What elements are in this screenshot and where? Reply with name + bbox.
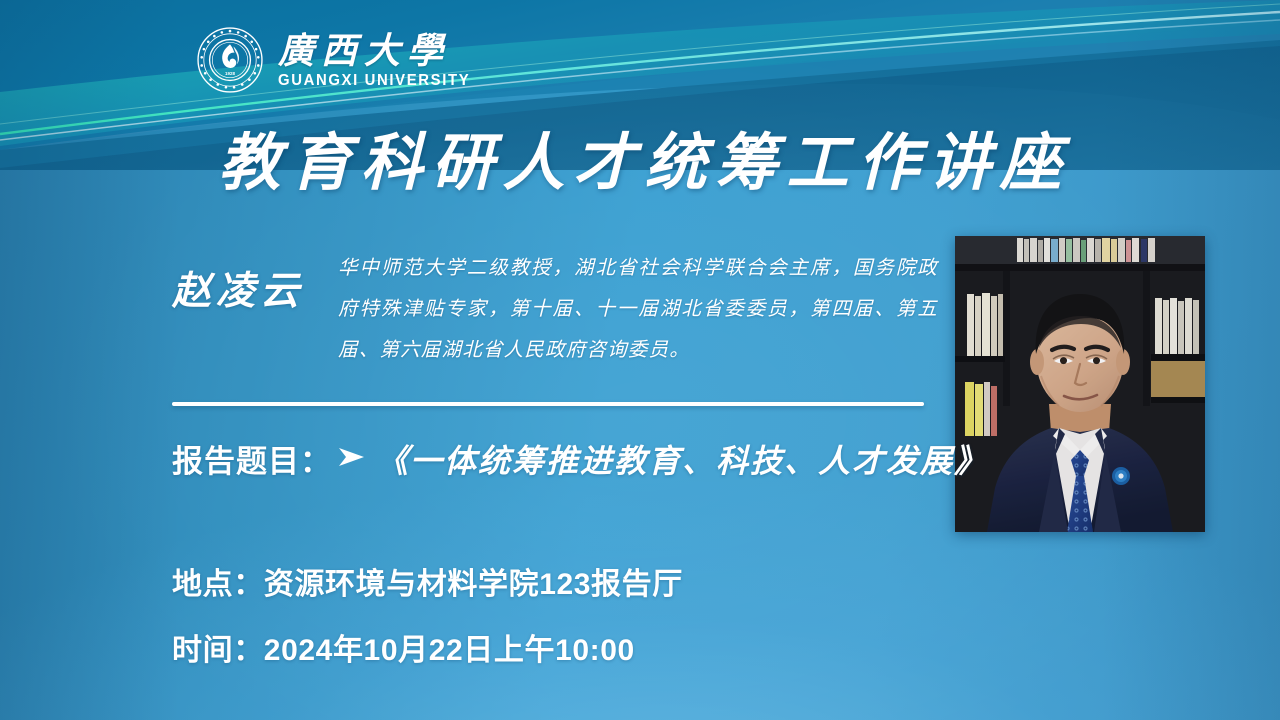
university-logo: 1928 廣西大學 GUANGXI UNIVERSITY — [196, 24, 478, 96]
logo-wordmark: 廣西大學 GUANGXI UNIVERSITY — [278, 33, 478, 90]
logo-name-cn: 廣西大學 — [278, 33, 478, 70]
section-divider — [172, 402, 924, 406]
logo-name-en: GUANGXI UNIVERSITY — [278, 72, 470, 89]
speaker-bio: 华中师范大学二级教授，湖北省社会科学联合会主席，国务院政府特殊津贴专家，第十届、… — [338, 248, 938, 371]
poster-main-title: 教育科研人才统筹工作讲座 — [0, 132, 1280, 197]
speaker-portrait-image — [955, 236, 1205, 532]
arrow-right-outline-icon — [337, 445, 367, 469]
svg-text:1928: 1928 — [225, 71, 235, 76]
topic-label: 报告题目： — [172, 436, 332, 481]
time-line: 时间：2024年10月22日上午10:00 — [172, 625, 635, 669]
venue-line: 地点：资源环境与材料学院123报告厅 — [172, 559, 683, 603]
guangxi-university-seal-icon: 1928 — [196, 26, 264, 94]
lecture-poster: 1928 廣西大學 GUANGXI UNIVERSITY 教育科研人才统筹工作讲… — [0, 0, 1280, 720]
topic-title: 《一体统筹推进教育、科技、人才发展》 — [376, 436, 988, 482]
topic-row: 报告题目： 《一体统筹推进教育、科技、人才发展》 — [172, 436, 988, 482]
speaker-name: 赵凌云 — [172, 272, 304, 311]
speaker-portrait — [955, 236, 1205, 532]
